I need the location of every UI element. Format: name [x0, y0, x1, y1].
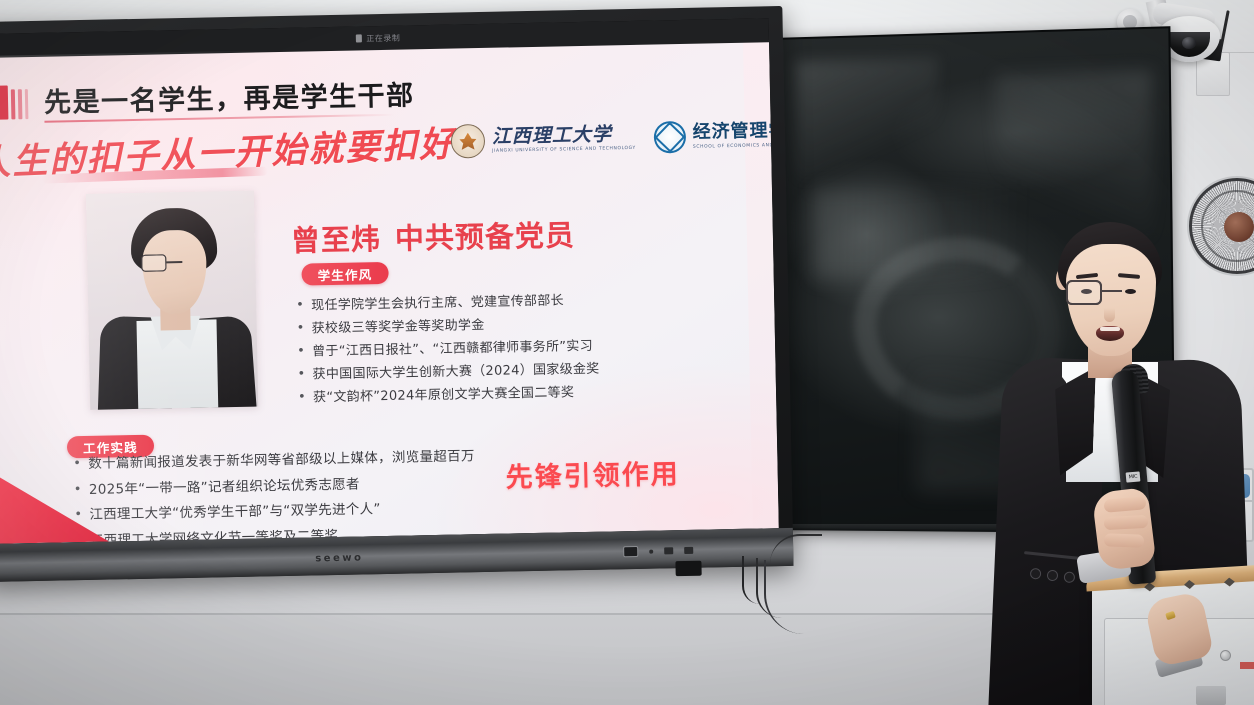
list-item: 曾于“江西日报社”、“江西赣都律师事务所”实习 [297, 340, 599, 359]
university-name-zh: 江西理工大学 [492, 124, 636, 147]
display-brand-label: seewo [315, 552, 363, 564]
list-item: 江西理工大学“优秀学生干部”与“双学先进个人” [74, 501, 476, 523]
port-slot-icon [684, 547, 693, 554]
presentation-slide: 先是一名学生，再是学生干部 人生的扣子从一开始就要扣好 江西理工大学 JIANG… [0, 40, 779, 544]
presenter-mouth [1096, 326, 1124, 341]
podium-lock-icon[interactable] [1220, 650, 1231, 661]
student-conduct-list: 现任学院学生会执行主席、党建宣传部部长 获校级三等奖学金等奖助学金 曾于“江西日… [296, 294, 600, 415]
smart-display[interactable]: 正在录制 先是一名学生，再是学生干部 人生的扣子从一开始就要扣好 [0, 6, 794, 582]
microphone-brand-label: MIC [1126, 471, 1141, 482]
presenter-glasses-icon [1066, 280, 1158, 306]
display-control-buttons[interactable] [623, 545, 693, 557]
university-seal-icon [451, 124, 486, 159]
school-name-en: SCHOOL OF ECONOMICS AND MANAGEMENT [693, 142, 779, 149]
presenter-finger [1104, 515, 1149, 530]
list-item: 2025年“一带一路”记者组织论坛优秀志愿者 [74, 476, 476, 498]
power-button-icon[interactable] [623, 546, 638, 557]
classroom-scene: 正在录制 先是一名学生，再是学生干部 人生的扣子从一开始就要扣好 [0, 0, 1254, 705]
display-port [675, 561, 701, 577]
person-party-status: 中共预备党员 [395, 218, 576, 256]
person-name: 曾至炜 [291, 222, 382, 258]
hanging-cable [742, 556, 760, 604]
portrait-glasses-icon [141, 254, 207, 272]
chalk-smear [796, 57, 939, 181]
slide-person-name-line: 曾至炜中共预备党员 [290, 212, 575, 260]
port-slot-icon [664, 547, 673, 554]
university-logo: 江西理工大学 JIANGXI UNIVERSITY OF SCIENCE AND… [451, 121, 636, 159]
badge-student-conduct: 学生作风 [301, 262, 388, 286]
floor-baseboard-line [0, 613, 1060, 615]
recording-dot-icon [355, 34, 361, 42]
floor [0, 613, 1060, 705]
list-item: 获中国国际大学生创新大赛（2024）国家级金奖 [297, 363, 599, 382]
list-item: 现任学院学生会执行主席、党建宣传部部长 [296, 294, 598, 313]
slide-highlight-text: 先锋引领作用 [505, 452, 680, 494]
slide-portrait-photo [86, 191, 258, 410]
slide-logo-row: 江西理工大学 JIANGXI UNIVERSITY OF SCIENCE AND… [451, 117, 779, 158]
slide-title: 先是一名学生，再是学生干部 [44, 73, 415, 119]
presenter-nose [1104, 308, 1115, 322]
school-logo: 经济管理学院 SCHOOL OF ECONOMICS AND MANAGEMEN… [653, 118, 778, 153]
school-emblem-icon [653, 121, 686, 154]
indicator-dot-icon [649, 549, 653, 553]
podium-indicator [1240, 662, 1254, 669]
list-item: 获校级三等奖学金等奖助学金 [297, 317, 599, 336]
school-name-zh: 经济管理学院 [692, 121, 778, 142]
display-screen[interactable]: 正在录制 先是一名学生，再是学生干部 人生的扣子从一开始就要扣好 [0, 18, 779, 544]
university-name-en: JIANGXI UNIVERSITY OF SCIENCE AND TECHNO… [492, 146, 636, 154]
podium-drawer-slot[interactable] [1196, 686, 1226, 705]
list-item: 获“文韵杯”2024年原创文学大赛全国二等奖 [298, 386, 600, 405]
work-practice-list: 数十篇新闻报道发表于新华网等省部级以上媒体，浏览量超百万 2025年“一带一路”… [73, 450, 476, 544]
presenter-finger [1104, 533, 1144, 547]
recording-status-label: 正在录制 [366, 32, 400, 44]
slide-accent-bars-icon [0, 85, 28, 120]
